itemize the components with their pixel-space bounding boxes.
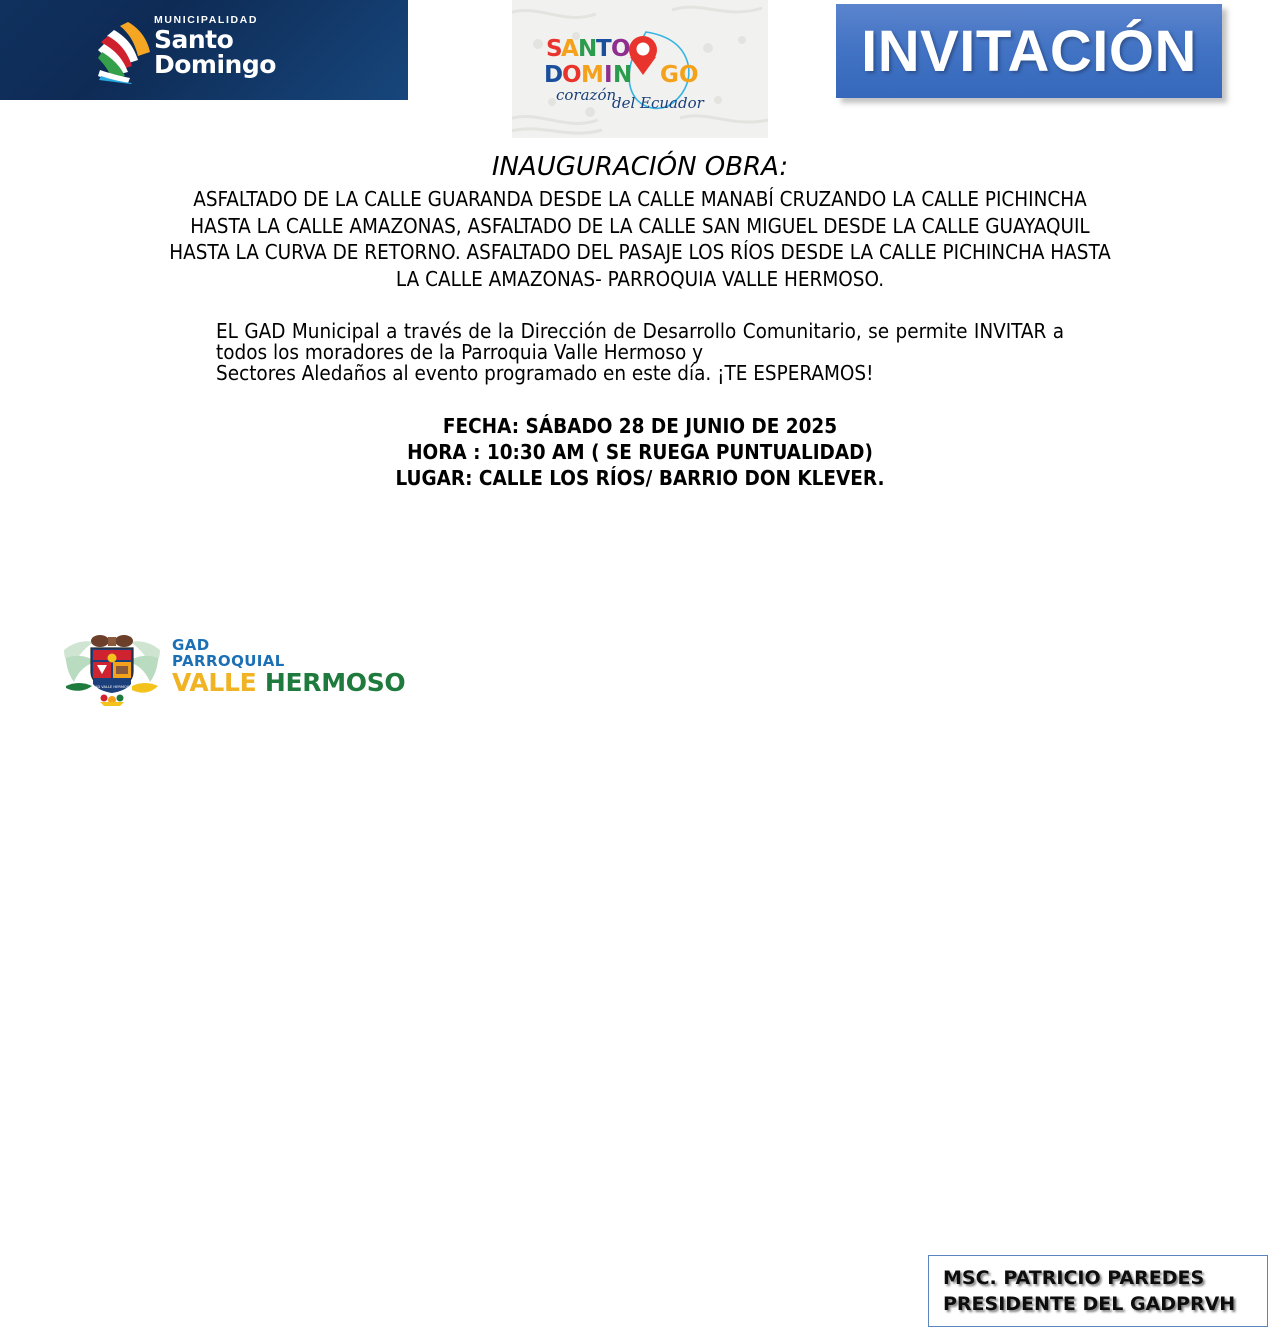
event-time: HORA : 10:30 AM ( SE RUEGA PUNTUALIDAD) (0, 439, 1280, 465)
svg-text:corazón: corazón (556, 86, 616, 104)
svg-text:del Ecuador: del Ecuador (612, 94, 705, 112)
invitation-paragraph-last: Sectores Aledaños al evento programado e… (216, 363, 1064, 384)
svg-text:A: A (561, 36, 579, 62)
document-body: INAUGURACIÓN OBRA: ASFALTADO DE LA CALLE… (0, 152, 1280, 491)
municipality-swoosh-icon (98, 16, 152, 84)
svg-text:N: N (578, 36, 597, 62)
santo-domingo-corazon-logo-icon: S A N T O D O M I N G O corazón del Ecua… (542, 30, 742, 112)
municipality-name-line2: Domingo (154, 52, 276, 78)
event-date: FECHA: SÁBADO 28 DE JUNIO DE 2025 (0, 413, 1280, 439)
municipality-logo-banner: MUNICIPALIDAD Santo Domingo (0, 0, 408, 100)
gad-word-valle: VALLE (172, 668, 265, 697)
signature-role: PRESIDENTE DEL GADPRVH (943, 1291, 1267, 1317)
svg-text:I: I (604, 62, 613, 88)
signature-box: MSC. PATRICIO PAREDES PRESIDENTE DEL GAD… (928, 1255, 1268, 1327)
document-header: MUNICIPALIDAD Santo Domingo (0, 0, 1280, 140)
invitation-banner-label: INVITACIÓN (861, 18, 1197, 85)
svg-text:O: O (679, 62, 699, 88)
svg-text:GAD VALLE HERMOSO: GAD VALLE HERMOSO (92, 685, 132, 689)
svg-text:N: N (613, 62, 632, 88)
gad-line-parroquial: PARROQUIAL (172, 654, 405, 670)
work-description: ASFALTADO DE LA CALLE GUARANDA DESDE LA … (165, 186, 1115, 292)
invitation-paragraph-main: EL GAD Municipal a través de la Direcció… (216, 319, 1064, 364)
svg-text:D: D (544, 62, 563, 88)
svg-text:O: O (611, 36, 631, 62)
municipality-wordmark: MUNICIPALIDAD Santo Domingo (154, 14, 276, 78)
event-details: FECHA: SÁBADO 28 DE JUNIO DE 2025 HORA :… (0, 413, 1280, 491)
svg-text:G: G (660, 62, 679, 88)
gad-line-valle-hermoso: VALLE HERMOSO (172, 669, 405, 696)
invitation-banner: INVITACIÓN (836, 4, 1222, 98)
valle-hermoso-coat-of-arms-icon: GAD VALLE HERMOSO (60, 628, 164, 708)
municipality-logo: MUNICIPALIDAD Santo Domingo (98, 14, 313, 86)
svg-text:O: O (562, 62, 582, 88)
work-title: INAUGURACIÓN OBRA: (0, 152, 1280, 182)
svg-text:T: T (596, 36, 612, 62)
svg-text:M: M (581, 62, 604, 88)
invitation-paragraph: EL GAD Municipal a través de la Direcció… (216, 321, 1064, 384)
municipality-name-line1: Santo (154, 27, 276, 52)
document-footer: GAD VALLE HERMOSO GAD PARROQUIAL VALLE H… (0, 620, 1280, 720)
gad-word-hermoso: HERMOSO (265, 668, 406, 697)
event-place: LUGAR: CALLE LOS RÍOS/ BARRIO DON KLEVER… (0, 465, 1280, 491)
signature-name: MSC. PATRICIO PAREDES (943, 1265, 1267, 1291)
gad-parroquial-logo: GAD VALLE HERMOSO GAD PARROQUIAL VALLE H… (60, 628, 420, 708)
gad-wordmark: GAD PARROQUIAL VALLE HERMOSO (172, 638, 405, 696)
tourism-logo-block: S A N T O D O M I N G O corazón del Ecua… (512, 0, 768, 138)
